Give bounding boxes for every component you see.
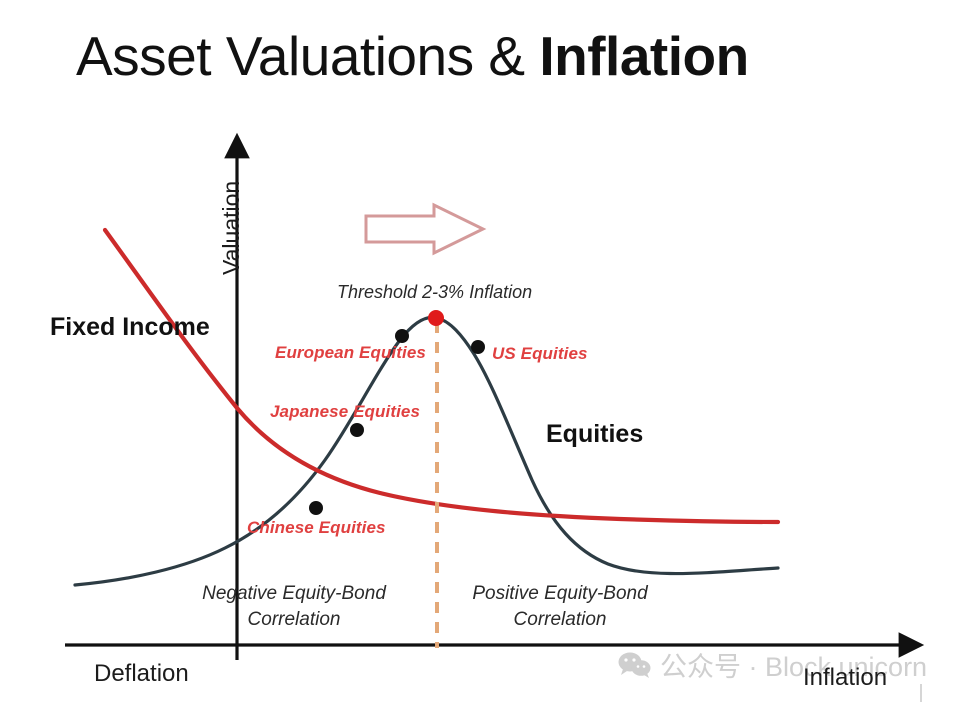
fixed-income-curve — [105, 230, 778, 522]
chinese-equities-label: Chinese Equities — [247, 518, 386, 538]
japanese-equities-dot — [350, 423, 364, 437]
threshold-annotation: Threshold 2-3% Inflation — [337, 282, 532, 303]
european-equities-dot — [395, 329, 409, 343]
equities-label: Equities — [546, 420, 643, 449]
right-arrow-outline-icon — [366, 205, 483, 253]
us-equities-dot — [471, 340, 485, 354]
fixed-income-label: Fixed Income — [50, 313, 210, 342]
slide-canvas: Asset Valuations & Inflation Valuation — [0, 0, 972, 707]
us-equities-label: US Equities — [492, 344, 588, 364]
x-axis-left-label: Deflation — [94, 660, 189, 688]
japanese-equities-label: Japanese Equities — [270, 402, 420, 422]
equities-curve — [75, 317, 778, 585]
positive-correlation-note: Positive Equity-Bond Correlation — [464, 581, 656, 633]
y-axis-label: Valuation — [218, 181, 245, 275]
peak-marker-dot — [428, 310, 444, 326]
chinese-equities-dot — [309, 501, 323, 515]
watermark-tick — [920, 684, 922, 702]
european-equities-label: European Equities — [275, 343, 426, 363]
negative-correlation-note: Negative Equity-Bond Correlation — [198, 581, 390, 633]
x-axis-right-label: Inflation — [803, 664, 887, 692]
